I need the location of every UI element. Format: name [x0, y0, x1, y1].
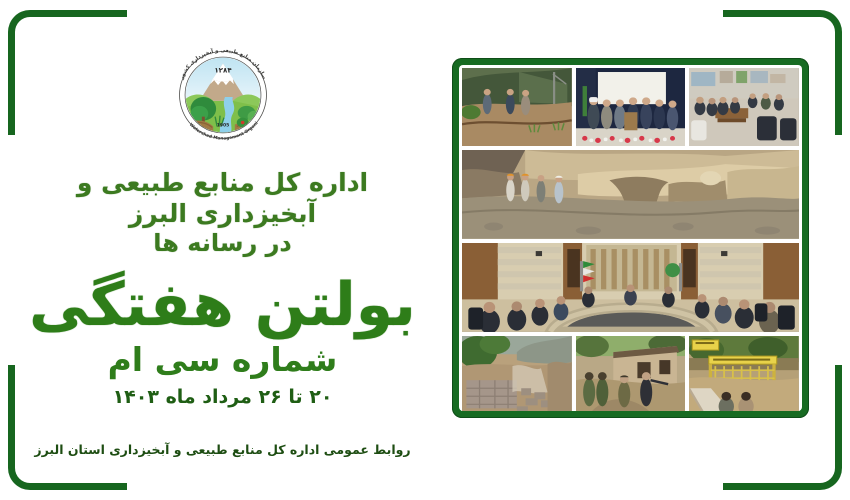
organization-title: اداره کل منابع طبیعی و آبخیزداری البرز د…: [13, 168, 433, 258]
organization-logo: ١٢٨۴ 1905 سازمان منابع طبیعی و آبخیزداری…: [164, 36, 282, 154]
issue-number-label: شماره سی ام: [8, 343, 438, 378]
logo-year-top: ١٢٨۴: [214, 65, 232, 74]
collage-row-top: [461, 67, 800, 147]
left-content-column: ١٢٨۴ 1905 سازمان منابع طبیعی و آبخیزداری…: [0, 0, 445, 500]
date-range-label: ۲۰ تا ۲۶ مرداد ماه ۱۴۰۳: [8, 387, 438, 408]
photo-rangers-building: [575, 335, 687, 411]
photo-collage-grid: [459, 65, 802, 411]
photo-field-visit-greenhouse: [461, 67, 573, 147]
photo-conference-hall-session: [461, 242, 800, 333]
organization-title-line1: اداره کل منابع طبیعی و آبخیزداری البرز: [77, 168, 368, 228]
footer-credit-line: روابط عمومی اداره کل منابع طبیعی و آبخیز…: [8, 442, 438, 457]
photo-excavation-site-inspection: [461, 149, 800, 240]
poster-canvas: ١٢٨۴ 1905 سازمان منابع طبیعی و آبخیزداری…: [0, 0, 850, 500]
organization-title-line2: در رسانه ها: [13, 229, 433, 258]
photo-collage: [452, 58, 809, 418]
logo-year-bottom: 1905: [216, 122, 229, 128]
photo-yellow-sign-gate: [688, 335, 800, 411]
nrwmo-seal-icon: ١٢٨۴ 1905 سازمان منابع طبیعی و آبخیزداری…: [164, 36, 282, 154]
photo-indoor-meeting-seated: [688, 67, 800, 147]
photo-demolition-rubble: [461, 335, 573, 411]
collage-row-bottom: [461, 335, 800, 411]
bulletin-headline: بولتن هفتگی: [8, 275, 438, 335]
photo-ceremony-stage-group: [575, 67, 687, 147]
collage-row-quarry: [461, 149, 800, 240]
collage-row-conference: [461, 242, 800, 333]
